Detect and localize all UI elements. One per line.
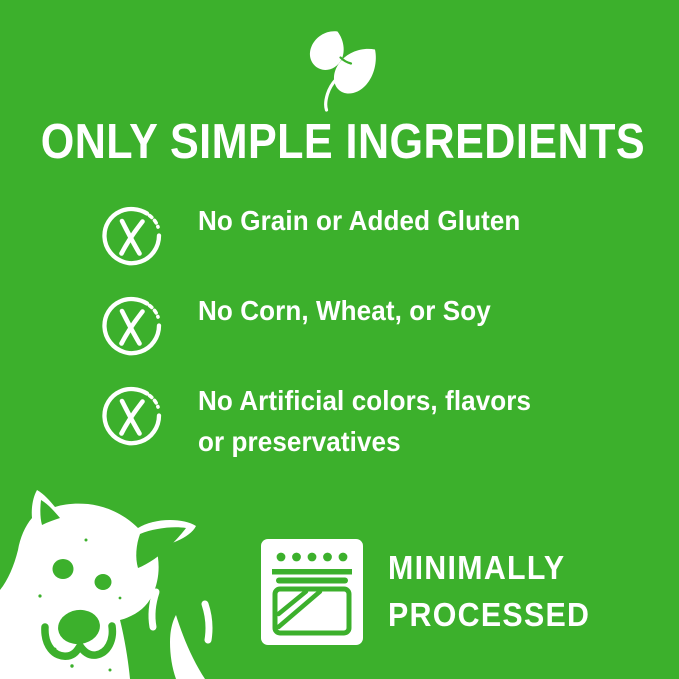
claim-row: No Grain or Added Gluten — [0, 196, 679, 286]
claim-line-2: or preservatives — [198, 421, 635, 462]
page-title: ONLY SIMPLE INGREDIENTS — [41, 114, 639, 170]
claims-list: No Grain or Added Gluten No Corn, Wheat,… — [0, 196, 679, 466]
x-circle-icon — [99, 294, 165, 360]
processed-line-1: MINIMALLY — [388, 544, 572, 591]
x-circle-icon — [99, 384, 165, 450]
claim-row: No Artificial colors, flavors or preserv… — [0, 376, 679, 466]
leaf-icon — [296, 24, 384, 112]
processed-line-2: PROCESSED — [388, 591, 572, 638]
claim-line-1: No Artificial colors, flavors — [198, 385, 531, 416]
claim-line-1: No Corn, Wheat, or Soy — [198, 295, 491, 326]
minimally-processed-label: MINIMALLY PROCESSED — [388, 544, 572, 638]
oven-icon — [258, 536, 366, 648]
claim-text: No Grain or Added Gluten — [198, 200, 635, 241]
dog-illustration — [0, 470, 230, 679]
x-circle-icon — [99, 204, 165, 270]
claim-text: No Artificial colors, flavors or preserv… — [198, 380, 635, 462]
claim-text: No Corn, Wheat, or Soy — [198, 290, 635, 331]
ingredients-poster: ONLY SIMPLE INGREDIENTS No Grain or Adde… — [0, 0, 679, 679]
claim-line-1: No Grain or Added Gluten — [198, 205, 520, 236]
minimally-processed-block: MINIMALLY PROCESSED — [258, 536, 588, 648]
claim-row: No Corn, Wheat, or Soy — [0, 286, 679, 376]
